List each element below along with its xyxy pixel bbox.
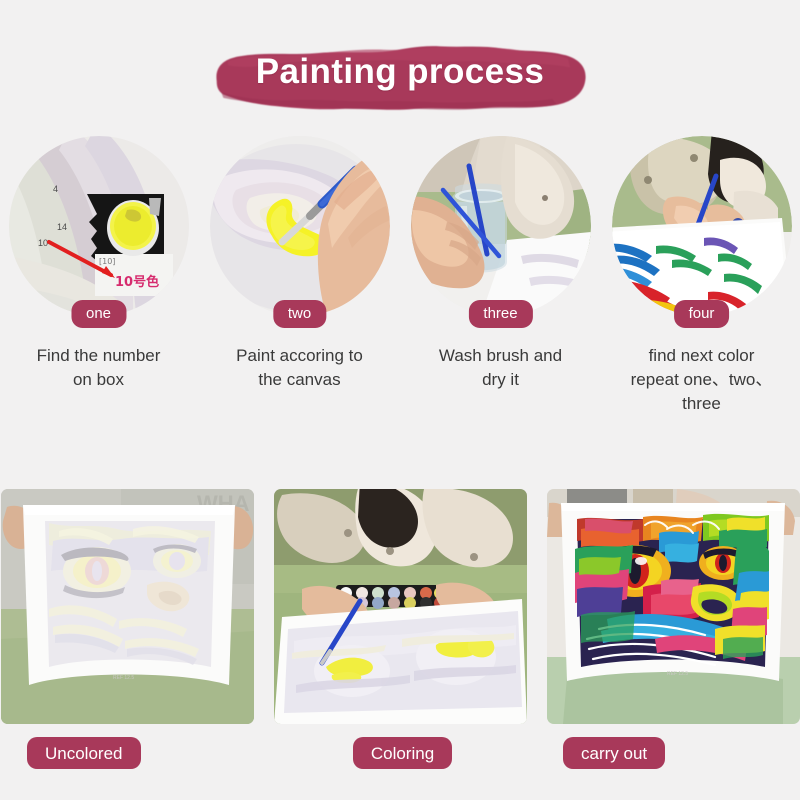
step-three-image-wrap: three [411, 136, 591, 316]
step-four-caption-line1: find next color [610, 344, 793, 368]
step-two-photo [210, 136, 390, 316]
page-title: Painting process [256, 52, 544, 92]
title-brush-stroke: Painting process [210, 43, 590, 104]
step-three-badge: three [468, 300, 532, 328]
step-four-image-wrap: four [612, 136, 792, 316]
step-one-photo: 4 14 10 [9, 136, 189, 316]
gallery-photo-carry-out: REF 12.5 [547, 489, 800, 724]
painting-next-color-illustration [612, 136, 792, 316]
canvas-number-14: 14 [57, 222, 67, 232]
canvas-number-10: 10 [38, 238, 48, 248]
step-two: two Paint accoring to the canvas [202, 136, 397, 456]
steps-row: 4 14 10 [0, 136, 800, 456]
step-one-caption: Find the number on box [1, 344, 196, 392]
step-two-caption-line1: Paint accoring to [208, 344, 391, 368]
step-two-badge: two [273, 300, 326, 328]
gallery-label-uncolored: Uncolored [27, 737, 141, 769]
step-one-caption-line1: Find the number [7, 344, 190, 368]
step-two-caption-line2: the canvas [208, 368, 391, 392]
washing-brush-in-water-jar-illustration [411, 136, 591, 316]
result-gallery: WHA [0, 489, 800, 724]
step-one-badge: one [71, 300, 126, 328]
step-three-photo [411, 136, 591, 316]
gallery-label-slot-3: carry out [541, 737, 800, 769]
finished-painting-photo: REF 12.5 [547, 489, 800, 724]
step-two-caption: Paint accoring to the canvas [202, 344, 397, 392]
paint-pot-label: 10号色 [115, 274, 159, 290]
step-four-caption-line3: three [610, 392, 793, 416]
svg-text:REF 12.5: REF 12.5 [113, 675, 134, 681]
gallery-label-coloring: Coloring [353, 737, 452, 769]
step-one-image-wrap: 4 14 10 [9, 136, 189, 316]
gallery-label-carry-out: carry out [563, 737, 665, 769]
step-three: three Wash brush and dry it [403, 136, 598, 456]
gallery-label-slot-1: Uncolored [0, 737, 264, 769]
gallery-photo-coloring [274, 489, 527, 724]
page-title-banner: Painting process [0, 38, 800, 108]
step-four: four find next color repeat one、two、 thr… [604, 136, 799, 456]
step-four-photo [612, 136, 792, 316]
gallery-label-slot-2: Coloring [284, 737, 521, 769]
step-three-caption-line1: Wash brush and [409, 344, 592, 368]
svg-text:REF 12.5: REF 12.5 [667, 671, 688, 677]
coloring-in-progress-photo [274, 489, 527, 724]
hand-painting-yellow-illustration [210, 136, 390, 316]
step-one-caption-line2: on box [7, 368, 190, 392]
step-three-caption-line2: dry it [409, 368, 592, 392]
colorful-cat-art [575, 514, 769, 665]
numbered-canvas-with-paint-pot-illustration: 4 14 10 [9, 136, 189, 316]
gallery-photo-uncolored: WHA [1, 489, 254, 724]
step-three-caption: Wash brush and dry it [403, 344, 598, 392]
canvas-number-4: 4 [53, 184, 58, 194]
uncolored-canvas-photo: WHA [1, 489, 254, 724]
step-four-caption: find next color repeat one、two、 three [604, 344, 799, 416]
step-one: 4 14 10 [1, 136, 196, 456]
step-four-caption-line2: repeat one、two、 [610, 368, 793, 392]
gallery-label-row: Uncolored Coloring carry out [0, 737, 800, 769]
step-two-image-wrap: two [210, 136, 390, 316]
step-four-badge: four [674, 300, 730, 328]
svg-text:[​​10​]: [​​10​] [99, 257, 115, 266]
